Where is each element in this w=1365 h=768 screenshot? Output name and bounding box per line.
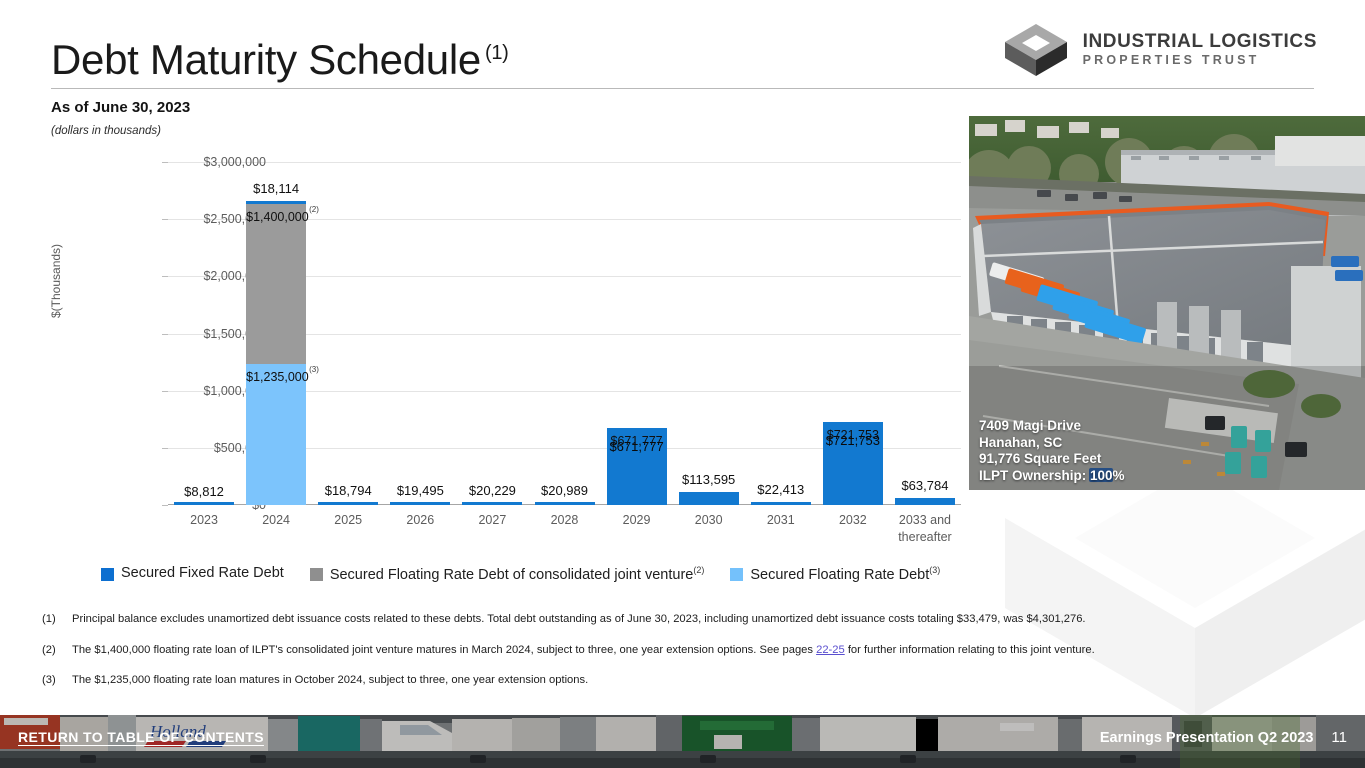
- y-axis-tick-mark: [162, 448, 168, 449]
- chart-bar-segment-fixed[interactable]: [535, 502, 595, 505]
- legend-item-1[interactable]: Secured Fixed Rate Debt: [101, 565, 284, 581]
- slide-subtitle: As of June 30, 2023: [51, 99, 190, 116]
- logo-line-1: INDUSTRIAL LOGISTICS: [1083, 32, 1317, 52]
- footnotes-list: (1)Principal balance excludes unamortize…: [42, 612, 1222, 704]
- legend-item-superscript: (2): [693, 565, 704, 575]
- x-axis-label: 2030: [673, 512, 745, 529]
- legend-color-swatch: [730, 568, 743, 581]
- chart-bar-segment-fixed[interactable]: [390, 502, 450, 505]
- legend-item-2[interactable]: Secured Floating Rate Debt of consolidat…: [310, 565, 705, 583]
- footer-presentation-label: Earnings Presentation Q2 2023: [1100, 730, 1314, 746]
- legend-item-superscript: (3): [929, 565, 940, 575]
- x-axis-label: 2028: [528, 512, 600, 529]
- property-photo: 7409 Magi Drive Hanahan, SC 91,776 Squar…: [969, 116, 1365, 490]
- units-note: (dollars in thousands): [51, 125, 161, 137]
- legend-item-label: Secured Fixed Rate Debt: [121, 565, 284, 581]
- footer-right-group: Earnings Presentation Q2 2023 11: [1100, 729, 1347, 746]
- photo-caption: 7409 Magi Drive Hanahan, SC 91,776 Squar…: [979, 418, 1125, 484]
- x-axis-label: 2026: [384, 512, 456, 529]
- chart-bar-group[interactable]: $671,777$671,777: [607, 162, 667, 505]
- chart-plot-area: $0$500,000$1,000,000$1,500,000$2,000,000…: [168, 162, 961, 505]
- chart-segment-value-label: $1,400,000: [246, 210, 306, 224]
- chart-bar-segment-fixed[interactable]: [895, 498, 955, 505]
- chart-bar-stack[interactable]: [462, 502, 522, 505]
- chart-bar-segment-fixed[interactable]: [318, 502, 378, 505]
- footnote-number: (3): [42, 673, 72, 688]
- y-axis-tick-mark: [162, 334, 168, 335]
- chart-bar-value-label: $63,784: [865, 478, 985, 493]
- page-title-text: Debt Maturity Schedule: [51, 36, 481, 83]
- page-title-superscript: (1): [485, 42, 509, 64]
- slide-footer: Holland: [0, 715, 1365, 768]
- return-to-table-of-contents-link[interactable]: RETURN TO TABLE OF CONTENTS: [18, 729, 264, 745]
- legend-color-swatch: [310, 568, 323, 581]
- title-divider: [51, 88, 1314, 89]
- chart-bar-group[interactable]: $18,794: [318, 162, 378, 505]
- footnote-3: (3)The $1,235,000 floating rate loan mat…: [42, 673, 1222, 688]
- x-axis-label: 2032: [817, 512, 889, 529]
- photo-square-feet: 91,776 Square Feet: [979, 451, 1125, 467]
- chart-bar-stack[interactable]: [318, 502, 378, 505]
- photo-city-state: Hanahan, SC: [979, 435, 1125, 451]
- footnote-1: (1)Principal balance excludes unamortize…: [42, 612, 1222, 627]
- x-axis-label: 2029: [601, 512, 673, 529]
- x-axis-label: 2024: [240, 512, 312, 529]
- logo-line-2: PROPERTIES TRUST: [1083, 54, 1317, 67]
- chart-bar-segment-fixed[interactable]: [462, 502, 522, 505]
- chart-bar-group[interactable]: $1,400,000(2)$1,235,000(3)$18,114: [246, 162, 306, 505]
- chart-bar-group[interactable]: $22,413: [751, 162, 811, 505]
- chart-bar-stack[interactable]: $1,400,000(2)$1,235,000(3): [246, 201, 306, 505]
- chart-bar-group[interactable]: $8,812: [174, 162, 234, 505]
- footnote-text: Principal balance excludes unamortized d…: [72, 612, 1086, 627]
- legend-color-swatch: [101, 568, 114, 581]
- chart-legend: Secured Fixed Rate DebtSecured Floating …: [101, 565, 940, 583]
- chart-bar-stack[interactable]: [535, 502, 595, 505]
- chart-bar-stack[interactable]: [751, 502, 811, 505]
- chart-bar-group[interactable]: $63,784: [895, 162, 955, 505]
- chart-bar-stack[interactable]: [174, 502, 234, 505]
- logo-wordmark: INDUSTRIAL LOGISTICS PROPERTIES TRUST: [1083, 32, 1317, 67]
- cube-logo-icon: [1003, 22, 1069, 78]
- footnote-number: (2): [42, 643, 72, 658]
- chart-bar-stack[interactable]: [390, 502, 450, 505]
- x-axis-label: 2027: [456, 512, 528, 529]
- x-axis-label: 2031: [745, 512, 817, 529]
- footnote-text: The $1,400,000 floating rate loan of ILP…: [72, 643, 1095, 658]
- y-axis-tick-mark: [162, 276, 168, 277]
- x-axis-label: 2025: [312, 512, 384, 529]
- chart-bar-group[interactable]: $19,495: [390, 162, 450, 505]
- chart-segment-value-label: $1,235,000: [246, 370, 306, 384]
- chart-bar-segment-jv[interactable]: $1,400,000(2): [246, 204, 306, 364]
- footnote-text: The $1,235,000 floating rate loan mature…: [72, 673, 588, 688]
- y-axis-title: $(Thousands): [49, 244, 63, 318]
- photo-ownership: ILPT Ownership: 100%: [979, 468, 1125, 484]
- y-axis-tick-mark: [162, 505, 168, 506]
- footnote-page-link[interactable]: 22-25: [816, 644, 845, 656]
- x-axis-label: 2023: [168, 512, 240, 529]
- chart-bar-segment-fixed[interactable]: [751, 502, 811, 505]
- chart-bar-group[interactable]: $721,753$721,753: [823, 162, 883, 505]
- chart-bar-stack[interactable]: [895, 498, 955, 505]
- footnote-2: (2)The $1,400,000 floating rate loan of …: [42, 643, 1222, 658]
- legend-item-3[interactable]: Secured Floating Rate Debt(3): [730, 565, 940, 583]
- y-axis-tick-mark: [162, 219, 168, 220]
- slide-root: Debt Maturity Schedule(1) As of June 30,…: [0, 0, 1365, 768]
- chart-bar-segment-fixed[interactable]: [174, 502, 234, 505]
- page-title: Debt Maturity Schedule(1): [51, 36, 509, 84]
- chart-bar-group[interactable]: $20,229: [462, 162, 522, 505]
- legend-item-label: Secured Floating Rate Debt of consolidat…: [330, 565, 705, 583]
- company-logo: INDUSTRIAL LOGISTICS PROPERTIES TRUST: [1003, 22, 1317, 78]
- footnote-number: (1): [42, 612, 72, 627]
- x-axis-label: 2033 and thereafter: [889, 512, 961, 546]
- legend-item-label: Secured Floating Rate Debt(3): [750, 565, 940, 583]
- y-axis-tick-mark: [162, 391, 168, 392]
- y-axis-tick-mark: [162, 162, 168, 163]
- debt-maturity-chart: $(Thousands) $0$500,000$1,000,000$1,500,…: [51, 150, 961, 560]
- photo-address: 7409 Magi Drive: [979, 418, 1125, 434]
- chart-bar-group[interactable]: $113,595: [679, 162, 739, 505]
- footer-page-number: 11: [1331, 729, 1347, 746]
